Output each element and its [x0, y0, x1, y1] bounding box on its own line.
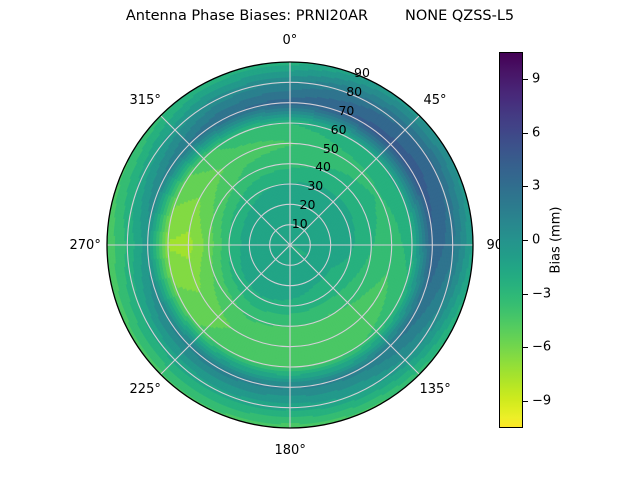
colorbar-tick-label: 0	[532, 233, 540, 248]
radial-tick-label-70: 70	[338, 103, 354, 118]
radial-tick-label-80: 80	[346, 84, 362, 99]
colorbar-tick-mark	[523, 133, 528, 134]
radial-tick-label-10: 10	[292, 216, 308, 231]
colorbar-gradient	[499, 52, 523, 428]
angular-tick-label-270: 270°	[70, 238, 101, 253]
radial-tick-label-40: 40	[315, 159, 331, 174]
colorbar-axis-label: Bias (mm)	[549, 207, 564, 274]
colorbar-tick-mark	[523, 79, 528, 80]
radial-tick-label-90: 90	[354, 65, 370, 80]
colorbar-tick-mark	[523, 240, 528, 241]
radial-tick-label-20: 20	[300, 197, 316, 212]
colorbar[interactable]: 9630−3−6−9	[499, 52, 523, 428]
colorbar-tick-label: 9	[532, 71, 540, 86]
angular-tick-label-0: 0°	[283, 33, 298, 48]
radial-tick-label-60: 60	[331, 122, 347, 137]
angular-tick-label-225: 225°	[130, 382, 161, 397]
angular-tick-label-135: 135°	[419, 382, 450, 397]
colorbar-tick-mark	[523, 401, 528, 402]
colorbar-tick-label: −9	[532, 394, 551, 409]
colorbar-tick-mark	[523, 294, 528, 295]
colorbar-tick-label: 6	[532, 125, 540, 140]
colorbar-tick-label: −3	[532, 286, 551, 301]
angular-tick-label-180: 180°	[275, 443, 306, 458]
radial-tick-label-30: 30	[307, 178, 323, 193]
angular-tick-label-45: 45°	[423, 93, 446, 108]
angular-tick-label-315: 315°	[130, 93, 161, 108]
radial-tick-label-50: 50	[323, 141, 339, 156]
polar-grid	[107, 62, 473, 428]
colorbar-tick-label: −6	[532, 340, 551, 355]
figure-canvas: Antenna Phase Biases: PRNI20AR NONE QZSS…	[0, 0, 640, 480]
colorbar-tick-mark	[523, 347, 528, 348]
colorbar-tick-label: 3	[532, 179, 540, 194]
colorbar-tick-mark	[523, 186, 528, 187]
